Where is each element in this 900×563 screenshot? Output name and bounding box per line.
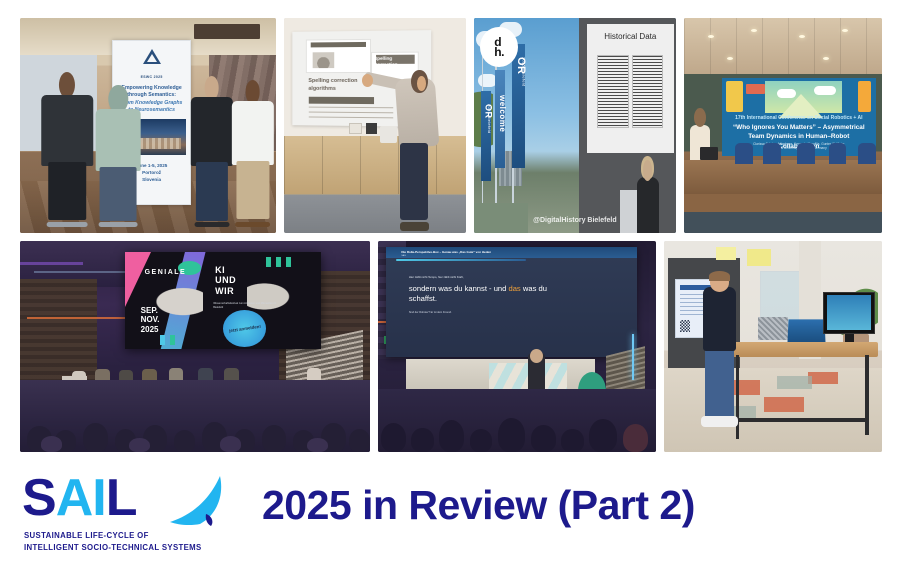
photo-conference-banner: ESWC 2025 Empowering Knowledge through S…	[20, 18, 276, 233]
sail-sail-icon	[162, 474, 228, 526]
flag-year: 2025 Bielefeld	[522, 57, 527, 87]
sail-tagline: SUSTAINABLE LIFE-CYCLE OF INTELLIGENT SO…	[24, 530, 202, 554]
eswc-logo-icon	[143, 49, 161, 64]
poster-page: ESWC 2025 Empowering Knowledge through S…	[0, 0, 900, 563]
flag-year: 2025 Bielefeld	[487, 104, 492, 134]
photo-or2025-bielefeld: OR 2025 Bielefeld welcome OR 2025 Bielef…	[474, 18, 676, 233]
stage-screen: GENIALE KI UND WIR SEP. NOV. 2025 Wissen…	[125, 252, 321, 349]
screen-headline: KI UND WIR	[215, 265, 236, 296]
photo-geniale-stage: GENIALE KI UND WIR SEP. NOV. 2025 Wissen…	[20, 241, 370, 452]
person	[189, 76, 235, 227]
slide-title: Historical Data	[587, 32, 674, 41]
monitor	[823, 292, 875, 334]
slide-card-title: Spelling Correction algorithms	[374, 55, 416, 73]
collage-row-bottom: GENIALE KI UND WIR SEP. NOV. 2025 Wissen…	[20, 241, 882, 452]
person	[94, 85, 143, 227]
collage-row-top: ESWC 2025 Empowering Knowledge through S…	[20, 18, 882, 233]
screen-dates: SEP. NOV. 2025	[141, 306, 160, 334]
photo-keynote-german-slide: Die Rolle-Perspektive-Box – Genau was „D…	[378, 241, 656, 452]
watermark: @DigitalHistory Bielefeld	[474, 217, 676, 224]
footer: SAIL SUSTAINABLE LIFE-CYCLE OF INTELLIGE…	[0, 460, 900, 563]
geniale-brand: GENIALE	[145, 269, 187, 276]
screen-subtitle: Wissenschaftsfestival zum Anfassen und M…	[213, 302, 280, 310]
photo-social-robotics-talk: 17th International Conference on Social …	[684, 18, 882, 233]
person	[230, 80, 276, 226]
robotic-arm	[758, 317, 789, 340]
slide-title: Spelling correction algorithms	[308, 78, 363, 93]
slide-header-sub: SAIL	[401, 255, 406, 257]
slide-pre-line: Hier zählt nicht Tempo, hier zählt nicht…	[409, 275, 464, 279]
demo-table	[732, 342, 878, 357]
slide-main-text: sondern was du kannst - und das was du s…	[409, 284, 612, 305]
page-title: 2025 in Review (Part 2)	[262, 482, 695, 529]
audience	[20, 380, 370, 452]
slide-post-line: Sind der Roboter? Er ist dein Freund.	[409, 311, 452, 314]
photo-demo-booth	[664, 241, 882, 452]
slide-conference-name: 17th International Conference on Social …	[722, 115, 877, 121]
person	[703, 287, 736, 350]
presentation-screen: Die Rolle-Perspektive-Box – Genau was „D…	[386, 247, 636, 357]
slide-header-title: Die Rolle-Perspektive-Box – Genau was „D…	[401, 250, 491, 254]
photo-spelling-correction-talk: Spelling correction algorithms Spelling …	[284, 18, 466, 233]
flag-label: welcome	[498, 95, 507, 132]
audience	[378, 389, 656, 452]
photo-collage: ESWC 2025 Empowering Knowledge through S…	[20, 18, 882, 452]
banner-brand: ESWC 2025	[113, 75, 190, 79]
screen-cta: jetzt anmelden!	[223, 310, 266, 347]
person	[40, 72, 94, 227]
laptop	[788, 319, 826, 342]
sail-logo[interactable]: SAIL SUSTAINABLE LIFE-CYCLE OF INTELLIGE…	[22, 472, 222, 550]
projection-screen: Historical Data	[587, 24, 674, 153]
